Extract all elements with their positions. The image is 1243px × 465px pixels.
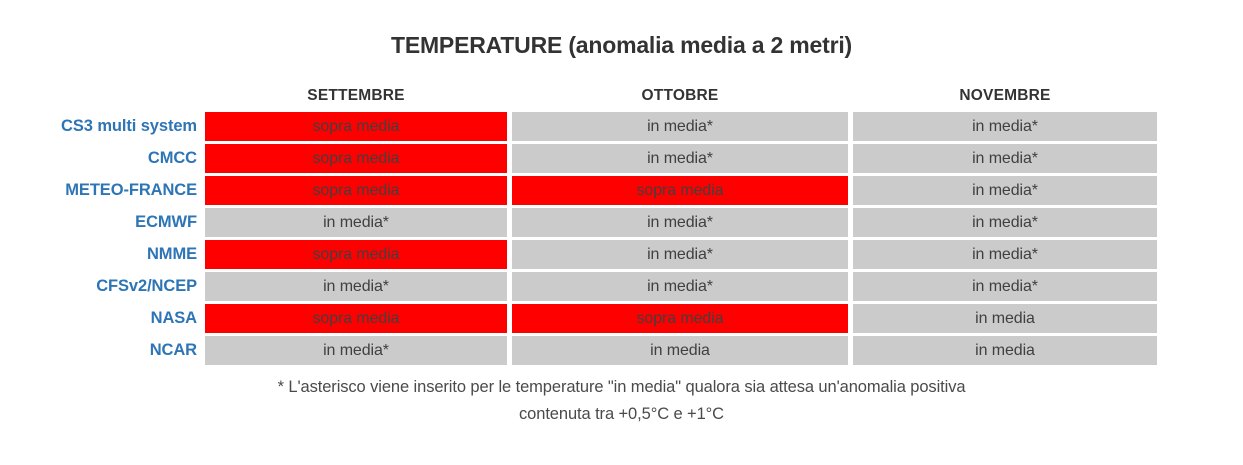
cell-meteo-france-settembre: sopra media xyxy=(205,176,507,205)
cell-cmcc-settembre: sopra media xyxy=(205,144,507,173)
table-row: CS3 multi system sopra media in media* i… xyxy=(0,112,1243,141)
row-label-ecmwf: ECMWF xyxy=(0,213,205,232)
temperature-forecast-table-page: TEMPERATURE (anomalia media a 2 metri) S… xyxy=(0,0,1243,465)
table-row: NCAR in media* in media in media xyxy=(0,336,1243,365)
row-label-ncar: NCAR xyxy=(0,341,205,360)
cell-ncar-ottobre: in media xyxy=(512,336,848,365)
table-row: CFSv2/NCEP in media* in media* in media* xyxy=(0,272,1243,301)
row-cells: in media* in media in media xyxy=(205,336,1243,365)
row-label-cs3-multi-system: CS3 multi system xyxy=(0,117,205,136)
table-row: NASA sopra media sopra media in media xyxy=(0,304,1243,333)
cell-ecmwf-settembre: in media* xyxy=(205,208,507,237)
row-cells: sopra media sopra media in media* xyxy=(205,176,1243,205)
header-cells: SETTEMBRE OTTOBRE NOVEMBRE xyxy=(205,84,1243,108)
row-cells: sopra media sopra media in media xyxy=(205,304,1243,333)
table-row: CMCC sopra media in media* in media* xyxy=(0,144,1243,173)
row-label-cfsv2-ncep: CFSv2/NCEP xyxy=(0,277,205,296)
cell-nmme-settembre: sopra media xyxy=(205,240,507,269)
row-cells: sopra media in media* in media* xyxy=(205,240,1243,269)
cell-cfsv2-ncep-ottobre: in media* xyxy=(512,272,848,301)
footnote-line-2: contenuta tra +0,5°C e +1°C xyxy=(0,401,1243,428)
cell-nmme-ottobre: in media* xyxy=(512,240,848,269)
table-row: ECMWF in media* in media* in media* xyxy=(0,208,1243,237)
cell-cs3-multi-system-settembre: sopra media xyxy=(205,112,507,141)
row-cells: sopra media in media* in media* xyxy=(205,144,1243,173)
cell-cs3-multi-system-novembre: in media* xyxy=(853,112,1157,141)
cell-nmme-novembre: in media* xyxy=(853,240,1157,269)
row-label-cmcc: CMCC xyxy=(0,149,205,168)
cell-cfsv2-ncep-novembre: in media* xyxy=(853,272,1157,301)
row-cells: sopra media in media* in media* xyxy=(205,112,1243,141)
cell-meteo-france-ottobre: sopra media xyxy=(512,176,848,205)
cell-nasa-settembre: sopra media xyxy=(205,304,507,333)
table-row: NMME sopra media in media* in media* xyxy=(0,240,1243,269)
table-row: METEO-FRANCE sopra media sopra media in … xyxy=(0,176,1243,205)
cell-cfsv2-ncep-settembre: in media* xyxy=(205,272,507,301)
cell-meteo-france-novembre: in media* xyxy=(853,176,1157,205)
row-cells: in media* in media* in media* xyxy=(205,272,1243,301)
cell-ecmwf-novembre: in media* xyxy=(853,208,1157,237)
footnote: * L'asterisco viene inserito per le temp… xyxy=(0,374,1243,428)
table-header-row: SETTEMBRE OTTOBRE NOVEMBRE xyxy=(0,84,1243,108)
cell-nasa-novembre: in media xyxy=(853,304,1157,333)
column-header-settembre: SETTEMBRE xyxy=(205,84,507,108)
row-label-meteo-france: METEO-FRANCE xyxy=(0,181,205,200)
page-title: TEMPERATURE (anomalia media a 2 metri) xyxy=(0,32,1243,59)
forecast-table: SETTEMBRE OTTOBRE NOVEMBRE CS3 multi sys… xyxy=(0,84,1243,368)
footnote-line-1: * L'asterisco viene inserito per le temp… xyxy=(0,374,1243,401)
cell-ncar-novembre: in media xyxy=(853,336,1157,365)
cell-ncar-settembre: in media* xyxy=(205,336,507,365)
column-header-novembre: NOVEMBRE xyxy=(853,84,1157,108)
row-label-nasa: NASA xyxy=(0,309,205,328)
cell-cmcc-ottobre: in media* xyxy=(512,144,848,173)
row-cells: in media* in media* in media* xyxy=(205,208,1243,237)
cell-cs3-multi-system-ottobre: in media* xyxy=(512,112,848,141)
column-header-ottobre: OTTOBRE xyxy=(512,84,848,108)
cell-ecmwf-ottobre: in media* xyxy=(512,208,848,237)
row-label-nmme: NMME xyxy=(0,245,205,264)
cell-nasa-ottobre: sopra media xyxy=(512,304,848,333)
cell-cmcc-novembre: in media* xyxy=(853,144,1157,173)
